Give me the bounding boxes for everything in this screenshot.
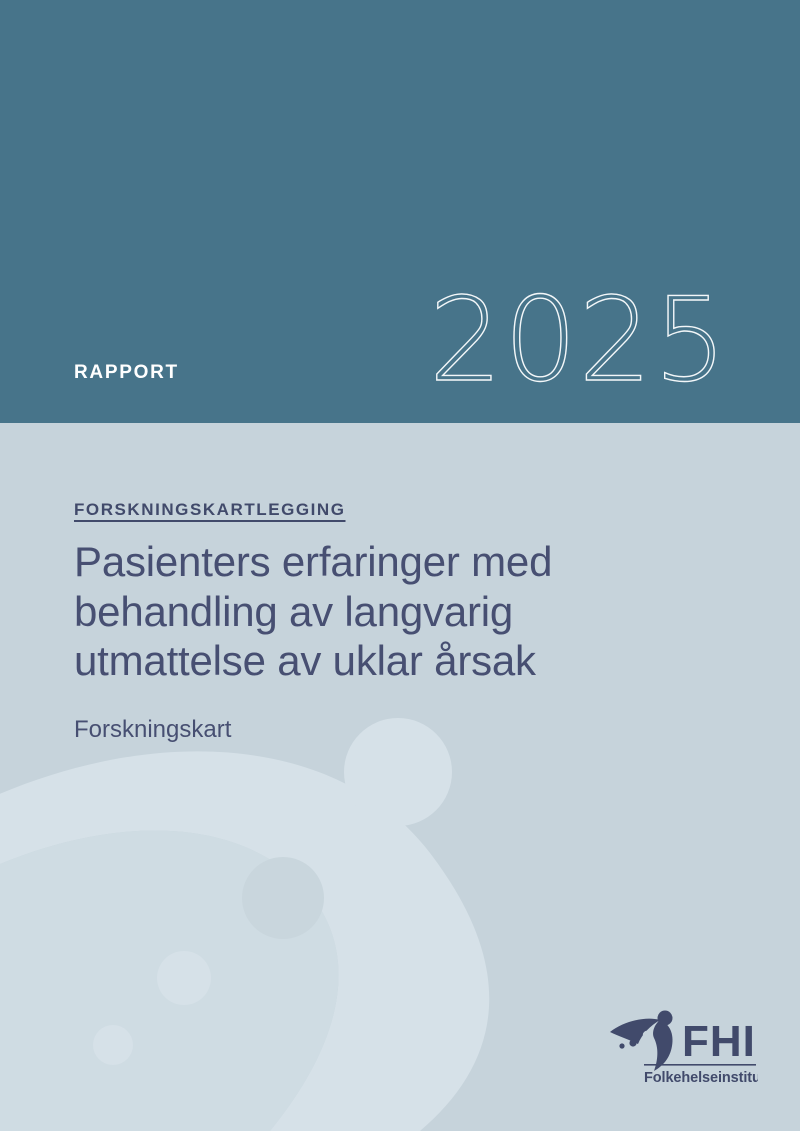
logo-wordmark: FHI	[682, 1017, 756, 1066]
report-category-label: FORSKNINGSKARTLEGGING	[74, 500, 346, 520]
logo-divider	[644, 1064, 756, 1066]
logo-inner-dot	[643, 1031, 651, 1039]
logo-dot-small	[619, 1043, 624, 1048]
header-band: RAPPORT 2025	[0, 0, 800, 423]
page-subtitle: Forskningskart	[74, 716, 674, 745]
logo-dot-medium	[629, 1039, 636, 1046]
watermark-dot-small	[93, 1025, 133, 1065]
logo-institution-name: Folkehelseinstituttet	[644, 1070, 758, 1086]
watermark-lower-sweep	[0, 830, 339, 1131]
logo-head-circle	[658, 1011, 673, 1026]
watermark-shoulder-circle	[242, 857, 324, 939]
page-title: Pasienters erfaringer med behandling av …	[74, 537, 614, 686]
cover-title-block: FORSKNINGSKARTLEGGING Pasienters erfarin…	[74, 500, 674, 745]
watermark-dot-large	[157, 951, 211, 1005]
fhi-logo-svg: FHI Folkehelseinstituttet	[608, 1010, 758, 1088]
report-year: 2025	[429, 283, 728, 399]
fhi-logo: FHI Folkehelseinstituttet	[608, 1010, 758, 1088]
watermark-body-stroke	[0, 751, 489, 1131]
report-type-label: RAPPORT	[74, 363, 179, 382]
report-cover-page: RAPPORT 2025 FORSKNINGSKARTLEGGING Pasie…	[0, 0, 800, 1131]
logo-body-shape	[653, 1020, 672, 1071]
